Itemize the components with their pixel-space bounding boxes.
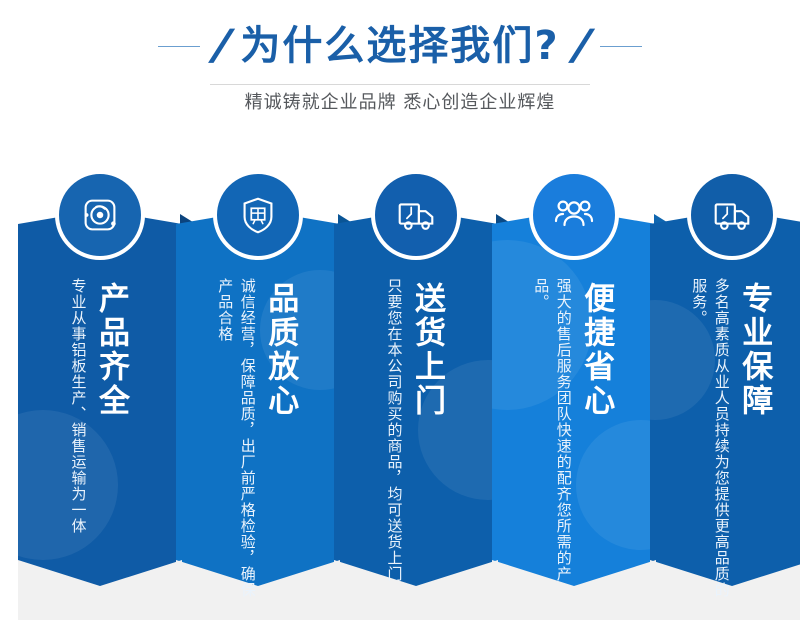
delivery-truck-icon	[393, 192, 439, 238]
icon-bubble-3	[371, 170, 461, 260]
icon-bubble-4	[529, 170, 619, 260]
icon-bubble-1	[55, 170, 145, 260]
page-subtitle: 精诚铸就企业品牌 悉心创造企业辉煌	[0, 88, 800, 118]
delivery-truck-icon	[709, 192, 755, 238]
header: / 为什么选择我们? / 精诚铸就企业品牌 悉心创造企业辉煌	[0, 0, 800, 150]
panel-description-4: 强大的售后服务团队快速的配齐您所需的产品。	[530, 278, 575, 608]
panel-heading-3: 送货上门	[410, 282, 443, 418]
title-rule-right	[600, 46, 642, 47]
panel-heading-1: 产品齐全	[94, 282, 127, 418]
feature-panels: 产品齐全 专业从事铝板生产、销售运输为一体 品质放心 诚信经营，保障品质，出厂前…	[0, 170, 800, 640]
page-title: 为什么选择我们?	[240, 26, 559, 66]
title-rule-left	[158, 46, 200, 47]
shield-quality-icon	[235, 192, 281, 238]
title-row: / 为什么选择我们? /	[0, 16, 800, 76]
feature-panel-2[interactable]: 品质放心 诚信经营，保障品质，出厂前严格检验，确保产品合格	[176, 170, 340, 640]
vault-safe-icon	[77, 192, 123, 238]
feature-panel-3[interactable]: 送货上门 只要您在本公司购买的商品，均可送货上门	[334, 170, 498, 640]
panel-description-5: 多名高素质从业人员持续为您提供更高品质的服务。	[688, 278, 733, 608]
feature-panel-1[interactable]: 产品齐全 专业从事铝板生产、销售运输为一体	[18, 170, 182, 640]
slash-left-icon: /	[208, 23, 232, 69]
slash-right-icon: /	[568, 23, 592, 69]
panel-description-1: 专业从事铝板生产、销售运输为一体	[67, 278, 90, 534]
panel-text-4: 便捷省心 强大的售后服务团队快速的配齐您所需的产品。	[492, 278, 656, 618]
subtitle-divider	[210, 84, 590, 85]
panel-heading-4: 便捷省心	[579, 282, 612, 418]
panel-text-1: 产品齐全 专业从事铝板生产、销售运输为一体	[18, 278, 182, 618]
people-group-icon	[550, 191, 598, 239]
feature-panel-5[interactable]: 专业保障 多名高素质从业人员持续为您提供更高品质的服务。	[650, 170, 800, 640]
promo-page: / 为什么选择我们? / 精诚铸就企业品牌 悉心创造企业辉煌	[0, 0, 800, 640]
feature-panel-4[interactable]: 便捷省心 强大的售后服务团队快速的配齐您所需的产品。	[492, 170, 656, 640]
panel-text-3: 送货上门 只要您在本公司购买的商品，均可送货上门	[334, 278, 498, 618]
panel-heading-5: 专业保障	[737, 282, 770, 418]
panel-heading-2: 品质放心	[263, 282, 296, 418]
icon-bubble-2	[213, 170, 303, 260]
panel-text-5: 专业保障 多名高素质从业人员持续为您提供更高品质的服务。	[650, 278, 800, 618]
icon-bubble-5	[687, 170, 777, 260]
panel-text-2: 品质放心 诚信经营，保障品质，出厂前严格检验，确保产品合格	[176, 278, 340, 618]
panel-description-3: 只要您在本公司购买的商品，均可送货上门	[383, 278, 406, 582]
panel-description-2: 诚信经营，保障品质，出厂前严格检验，确保产品合格	[214, 278, 259, 608]
